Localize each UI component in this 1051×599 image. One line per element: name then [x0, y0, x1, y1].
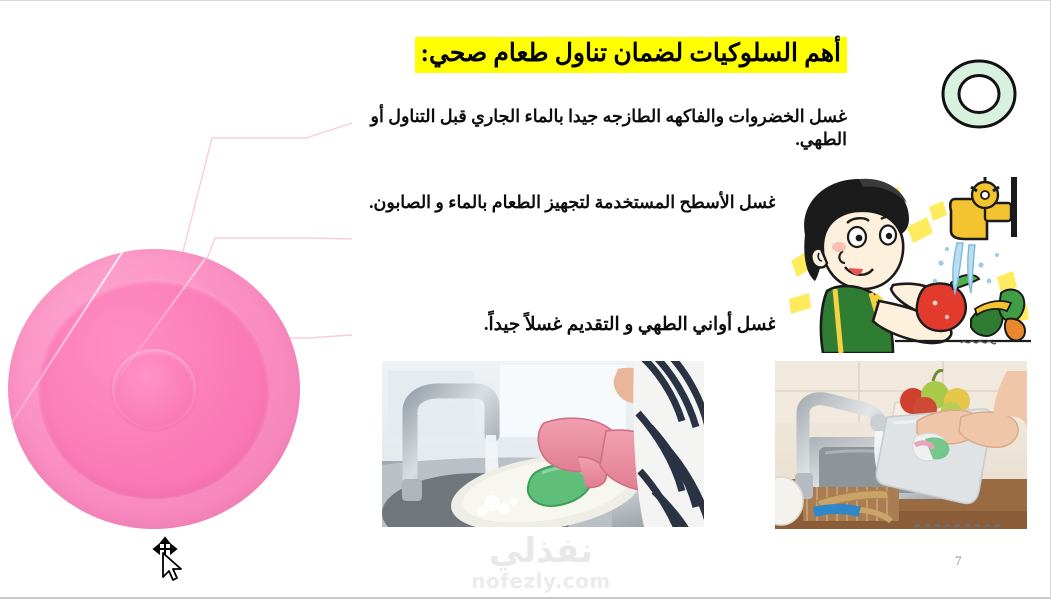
- page-number: 7: [955, 553, 962, 569]
- plate-center-hub: [112, 349, 196, 429]
- bullet-item-3: غسل أواني الطهي و التقديم غسلاً جيداً.: [357, 313, 777, 337]
- bullet-item-2: غسل الأسطح المستخدمة لتجهيز الطعام بالما…: [357, 191, 777, 214]
- presentation-slide: أهم السلوكيات لضمان تناول طعام صحي: غسل …: [0, 0, 1051, 599]
- move-cursor: [148, 535, 190, 583]
- watermark-latin: nofezly.com: [443, 570, 639, 592]
- cartoon-child-washing-produce: [775, 169, 1033, 353]
- watermark: نفذلي nofezly.com: [443, 534, 639, 596]
- green-ring-icon: [940, 58, 1018, 130]
- photo-washing-cutting-board[interactable]: [775, 361, 1027, 529]
- page-title: أهم السلوكيات لضمان تناول طعام صحي:: [415, 37, 847, 73]
- bullet-item-1: غسل الخضروات والفاكهه الطازجه جيدا بالما…: [357, 105, 847, 151]
- pink-circular-plate[interactable]: [8, 249, 300, 529]
- photo-washing-dish-pink-gloves[interactable]: [382, 361, 704, 527]
- watermark-arabic: نفذلي: [443, 534, 639, 568]
